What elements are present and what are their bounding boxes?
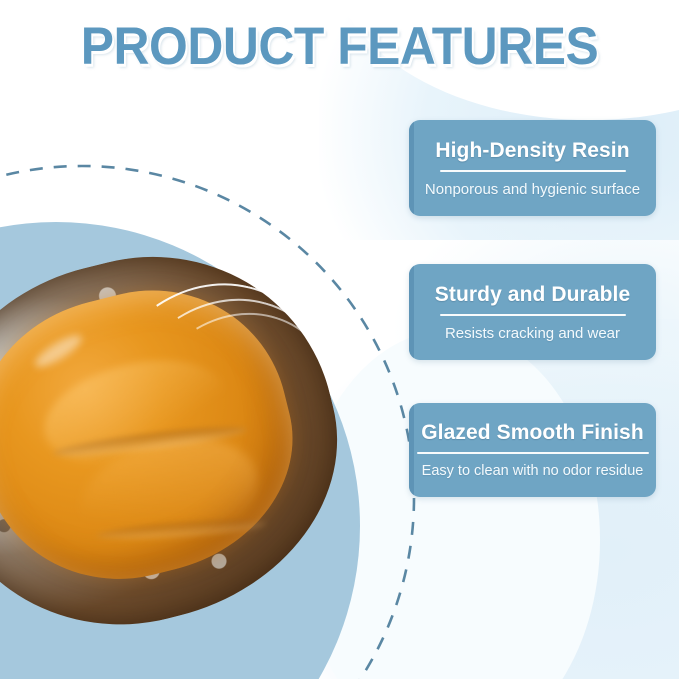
- feature-title: High-Density Resin: [435, 138, 629, 163]
- feature-divider: [440, 170, 626, 172]
- feature-card-high-density-resin[interactable]: High-Density Resin Nonporous and hygieni…: [409, 120, 656, 216]
- feature-card-sturdy-and-durable[interactable]: Sturdy and Durable Resists cracking and …: [409, 264, 656, 360]
- feature-card-list: High-Density Resin Nonporous and hygieni…: [409, 0, 659, 679]
- feature-divider: [417, 452, 649, 454]
- feature-title: Glazed Smooth Finish: [421, 420, 644, 445]
- feature-subtitle: Resists cracking and wear: [445, 324, 620, 343]
- infographic-canvas: PRODUCT FEATURES High-Density Resin Nonp…: [0, 0, 679, 679]
- feature-title: Sturdy and Durable: [435, 282, 631, 307]
- feature-card-glazed-smooth-finish[interactable]: Glazed Smooth Finish Easy to clean with …: [409, 403, 656, 497]
- feature-divider: [440, 314, 626, 316]
- feature-subtitle: Nonporous and hygienic surface: [425, 180, 640, 199]
- feature-subtitle: Easy to clean with no odor residue: [422, 462, 644, 481]
